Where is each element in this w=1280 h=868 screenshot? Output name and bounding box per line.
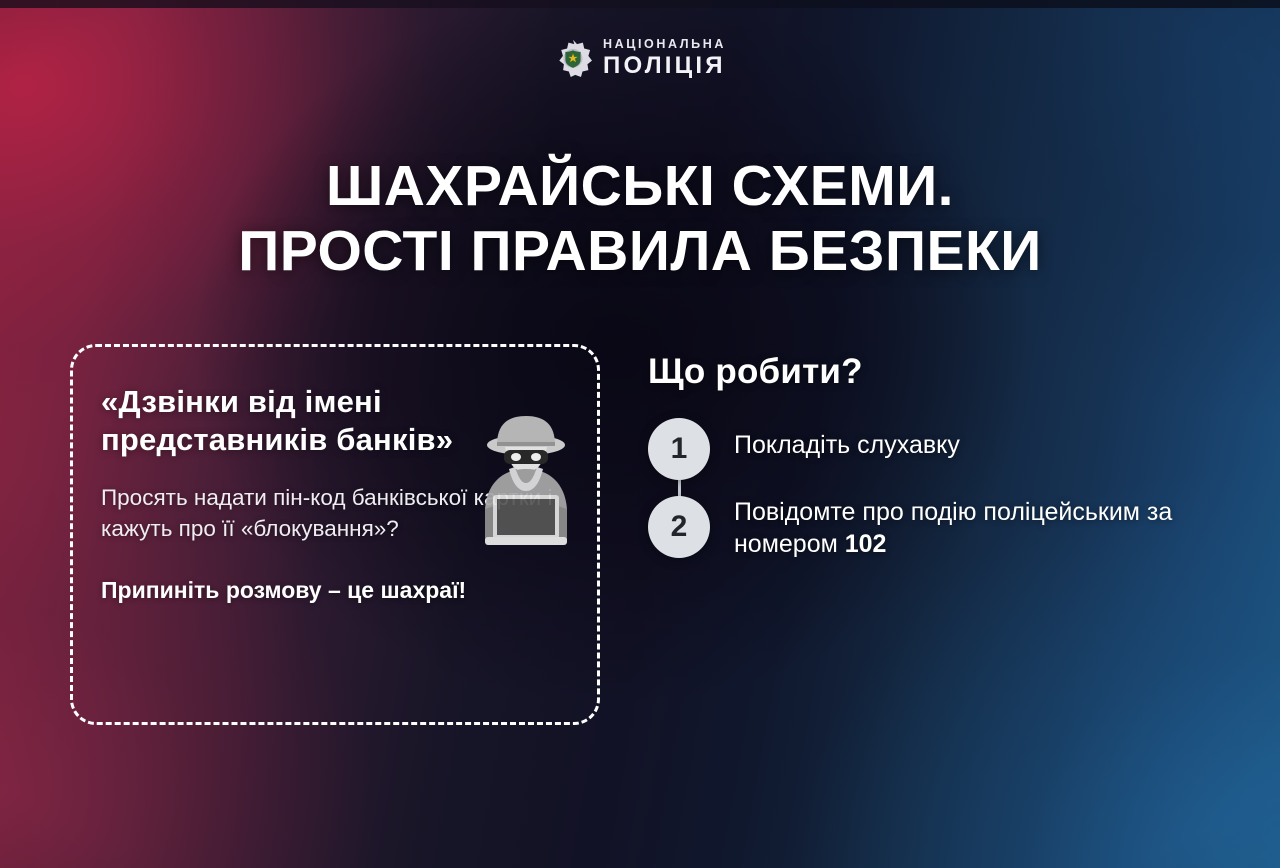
page-title: ШАХРАЙСЬКІ СХЕМИ. ПРОСТІ ПРАВИЛА БЕЗПЕКИ xyxy=(0,154,1280,284)
what-to-do-section: Що робити? 1 Покладіть слухавку 2 Повідо… xyxy=(648,352,1248,560)
card-heading: «Дзвінки від імені представників банків» xyxy=(101,383,521,460)
step-text-2: Повідомте про подію поліцейським за номе… xyxy=(734,496,1248,560)
step-text-1: Покладіть слухавку xyxy=(734,418,960,462)
page-title-line-2: ПРОСТІ ПРАВИЛА БЕЗПЕКИ xyxy=(0,219,1280,284)
step-item-1: 1 Покладіть слухавку xyxy=(648,418,1248,480)
step-item-2: 2 Повідомте про подію поліцейським за но… xyxy=(648,496,1248,560)
police-logo: НАЦІОНАЛЬНА ПОЛІЦІЯ xyxy=(0,38,1280,78)
logo-wordmark: НАЦІОНАЛЬНА ПОЛІЦІЯ xyxy=(603,38,726,78)
poster-root: НАЦІОНАЛЬНА ПОЛІЦІЯ ШАХРАЙСЬКІ СХЕМИ. ПР… xyxy=(0,0,1280,868)
page-title-line-1: ШАХРАЙСЬКІ СХЕМИ. xyxy=(0,154,1280,219)
card-footer-warning: Припиніть розмову – це шахраї! xyxy=(101,576,567,606)
step-text-2-phone-number: 102 xyxy=(845,530,887,558)
step-text-2-main: Повідомте про подію поліцейським за номе… xyxy=(734,498,1172,558)
hacker-with-laptop-icon xyxy=(463,409,589,549)
step-number-badge-2: 2 xyxy=(648,496,710,558)
step-number-badge-1: 1 xyxy=(648,418,710,480)
what-to-do-heading: Що робити? xyxy=(648,352,1248,392)
police-star-badge-icon xyxy=(554,39,592,77)
background-top-strip xyxy=(0,0,1280,8)
scam-scenario-card: «Дзвінки від імені представників банків»… xyxy=(70,344,600,725)
logo-line-national: НАЦІОНАЛЬНА xyxy=(603,38,726,51)
logo-line-police: ПОЛІЦІЯ xyxy=(603,54,726,78)
steps-list: 1 Покладіть слухавку 2 Повідомте про под… xyxy=(648,418,1248,560)
